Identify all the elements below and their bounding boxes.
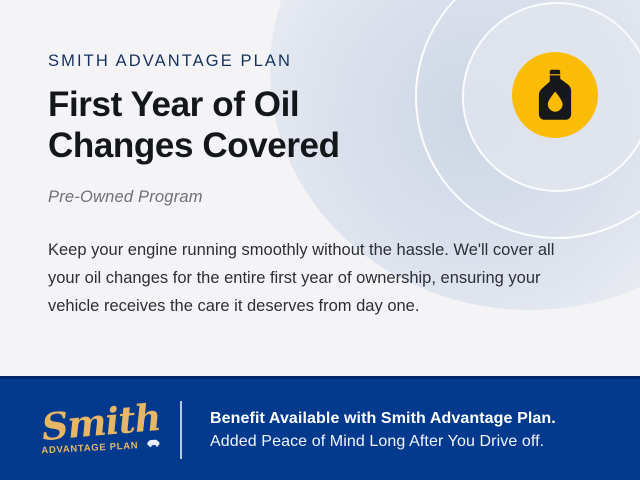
- logo-tagline: ADVANTAGE PLAN: [41, 440, 139, 456]
- program-subtitle: Pre-Owned Program: [48, 188, 578, 207]
- banner-subline: Added Peace of Mind Long After You Drive…: [210, 430, 556, 453]
- car-icon: [145, 434, 161, 453]
- promo-card: SMITH ADVANTAGE PLAN First Year of Oil C…: [0, 0, 640, 480]
- banner-divider: [180, 401, 182, 459]
- footer-banner: Smith ADVANTAGE PLAN Benefit Available w…: [0, 376, 640, 480]
- eyebrow-label: SMITH ADVANTAGE PLAN: [48, 52, 578, 71]
- page-title: First Year of Oil Changes Covered: [48, 84, 378, 166]
- smith-advantage-logo: Smith ADVANTAGE PLAN: [36, 404, 166, 455]
- banner-message: Benefit Available with Smith Advantage P…: [210, 407, 556, 453]
- banner-headline: Benefit Available with Smith Advantage P…: [210, 407, 556, 430]
- text-content: SMITH ADVANTAGE PLAN First Year of Oil C…: [48, 52, 578, 320]
- body-description: Keep your engine running smoothly withou…: [48, 236, 568, 320]
